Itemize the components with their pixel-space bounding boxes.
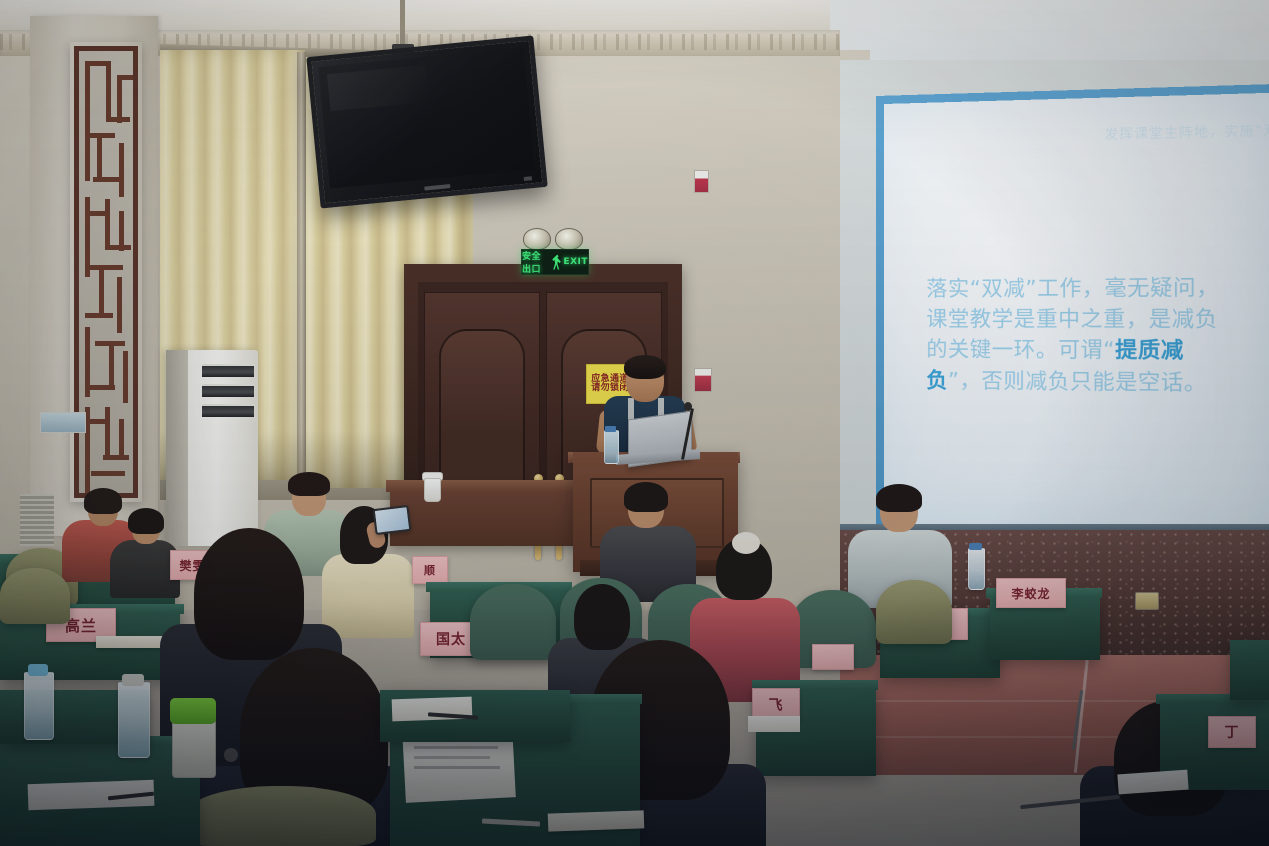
notebook-page [748,716,800,732]
namecard-lijiaolong: 李蛟龙 [996,578,1066,608]
chair[interactable] [186,786,376,846]
ac-louver [202,364,254,377]
notebook [96,636,166,648]
ceiling-mounted-television [306,35,548,208]
slide-line-1: 落实“双减”工作，毫无疑问， [926,271,1266,304]
shaker-cup-green-lid [170,698,216,724]
fire-alarm-call-point[interactable] [694,170,709,193]
namecard-extra [812,644,854,670]
emergency-lamp-right [555,228,583,250]
hair-clip [732,532,760,554]
slide-line-2: 课堂教学是重中之重，是减负 [926,303,1266,335]
ac-louver [202,404,254,417]
emergency-lights [523,228,585,250]
chair[interactable] [0,568,70,624]
chair[interactable] [470,584,556,660]
notebook [548,810,645,831]
ac-louver [202,384,254,397]
water-bottle-cap [122,674,144,686]
exit-sign-label-cn: 安全出口 [522,249,550,275]
shaker-cup [172,718,216,778]
podium-microphone-head[interactable] [684,402,692,411]
smartphone-camera[interactable] [373,505,412,535]
paper-text-line [414,756,490,759]
slide-line-3: 的关键一环。可谓“提质减 [926,335,1266,368]
table-row [1230,640,1269,700]
water-bottle-cap [605,426,616,432]
running-man-icon [552,255,562,270]
person-hair [876,484,922,512]
exit-sign-label-en: EXIT [563,257,588,267]
conference-hall-photo: 安全出口 EXIT 应急通道 请勿锁闭 发挥课堂主阵地，实施“双减” 落实“双减… [0,0,1269,846]
ac-intake-grille [20,494,54,546]
tv-screen [318,47,535,188]
tv-ceiling-pole [400,0,405,50]
water-bottle [24,672,54,740]
tv-brand-logo [424,184,450,190]
paper-text-line [414,766,500,769]
namecard-shun: 顺 [412,556,448,584]
water-bottle-cap [28,664,48,676]
tv-screen-glare [327,65,429,111]
paper-text-line [414,746,498,749]
person-hair [624,482,668,512]
ac-display-panel[interactable] [40,412,86,433]
door-panel [439,329,525,483]
emergency-lamp-left [523,228,551,250]
namecard-ding: 丁 [1208,716,1256,748]
slide-highlight-1: 提质减 [1115,338,1184,363]
fire-alarm-call-point[interactable] [694,368,712,392]
slide-line-4: 负”，否则减负只能是空话。 [926,365,1266,399]
emergency-exit-sign: 安全出口 EXIT [521,249,589,275]
person-hair [288,472,330,496]
tv-power-led [524,176,532,181]
chair[interactable] [876,580,952,644]
window-mullion [297,52,306,482]
person-hair [194,528,304,660]
slide-body-text: 落实“双减”工作，毫无疑问， 课堂教学是重中之重，是减负 的关键一环。可谓“提质… [926,271,1266,399]
water-bottle [118,682,150,758]
water-bottle [968,548,985,590]
water-bottle-podium [604,430,619,464]
teacup [424,478,441,502]
slide-heading: 发挥课堂主阵地，实施“双减” [1104,119,1269,143]
water-bottle-cap [969,543,982,550]
person-hair [128,508,164,534]
wall-outlet-yellow[interactable] [1135,592,1159,610]
speaker-hair [624,355,666,379]
projection-screen: 发挥课堂主阵地，实施“双减” 落实“双减”工作，毫无疑问， 课堂教学是重中之重，… [884,92,1269,539]
